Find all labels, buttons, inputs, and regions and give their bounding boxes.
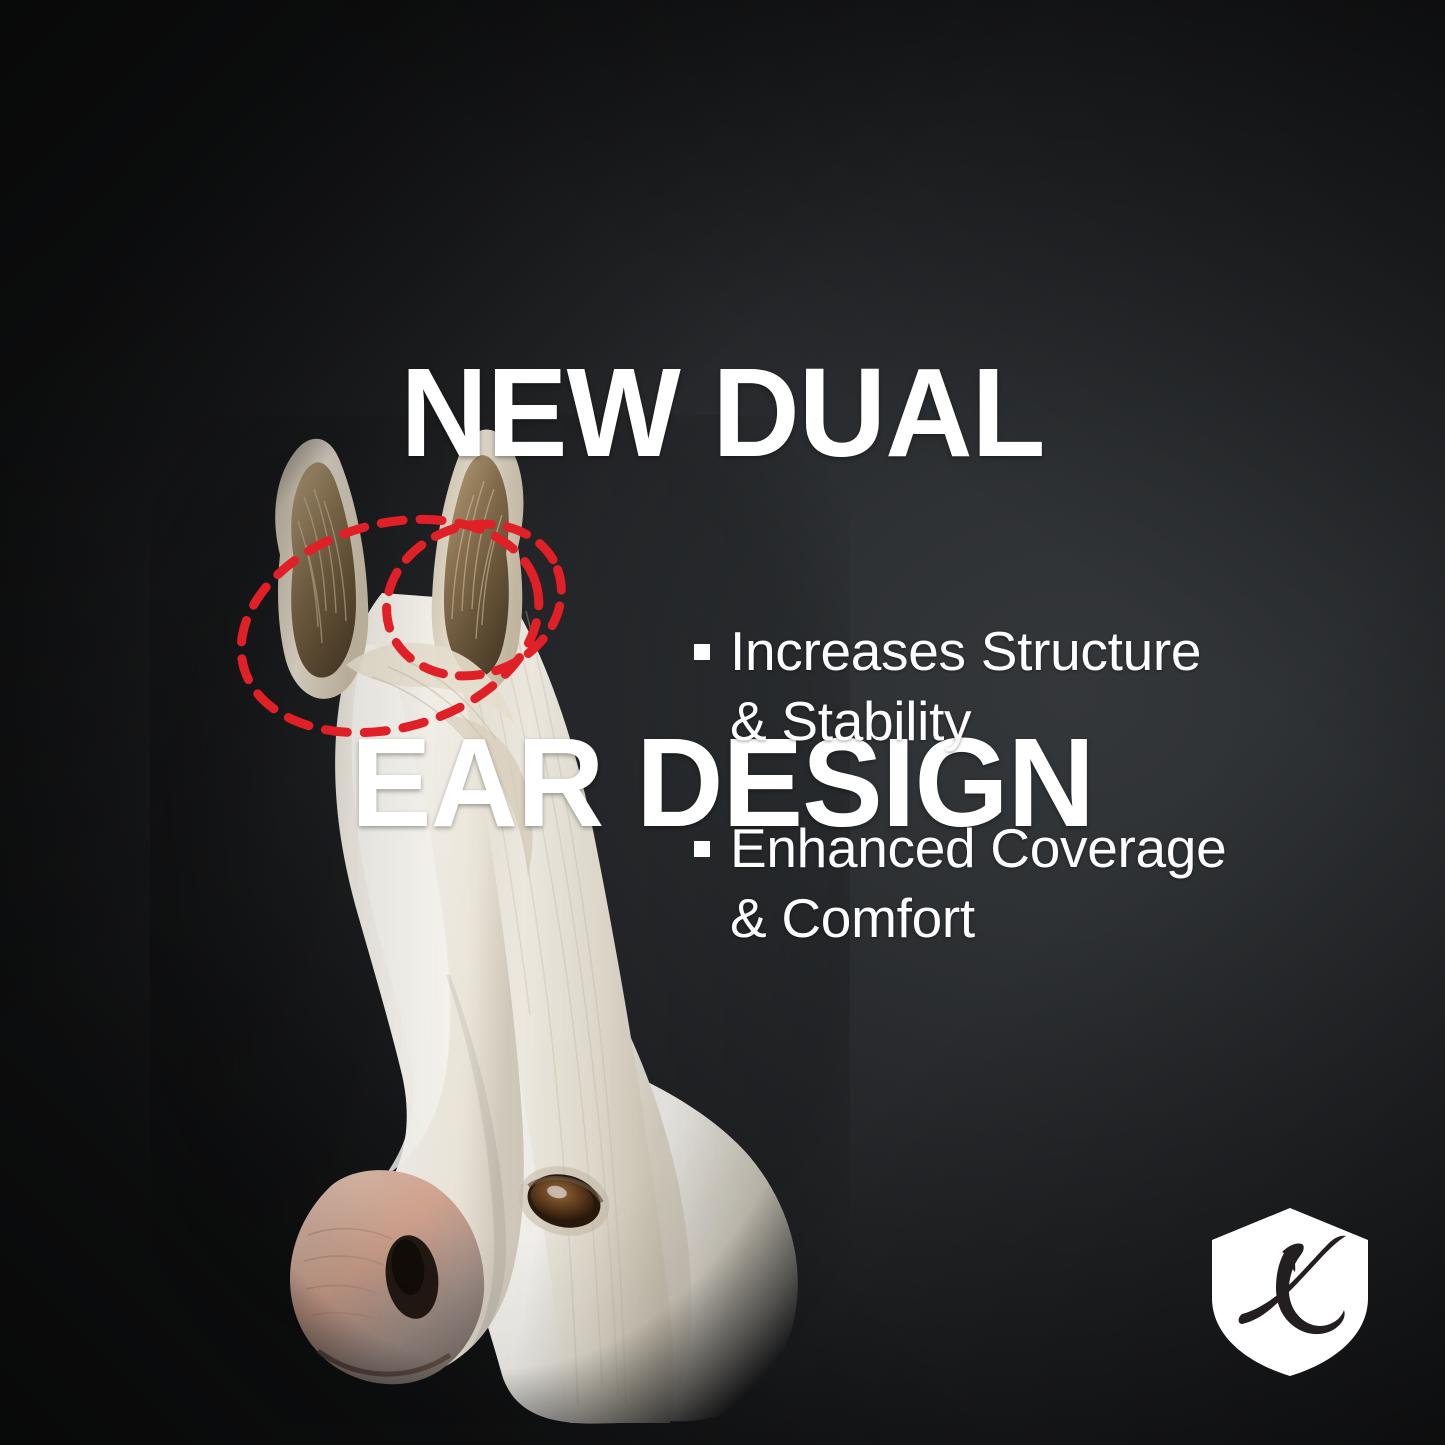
feature-text-1: Increases Structure & Stability [730, 616, 1201, 757]
promo-graphic: NEW DUAL EAR DESIGN Increases Structure … [0, 0, 1445, 1445]
feature-1-line-2: & Stability [730, 690, 971, 752]
feature-text-2: Enhanced Coverage & Comfort [730, 813, 1226, 954]
square-bullet-icon [694, 644, 710, 660]
square-bullet-icon [694, 841, 710, 857]
list-item: Enhanced Coverage & Comfort [694, 813, 1384, 954]
headline-line-1: NEW DUAL [29, 351, 1416, 474]
feature-1-line-1: Increases Structure [730, 620, 1201, 682]
feature-2-line-1: Enhanced Coverage [730, 817, 1226, 879]
feature-list: Increases Structure & Stability Enhanced… [694, 616, 1384, 1010]
feature-2-line-2: & Comfort [730, 887, 975, 949]
list-item: Increases Structure & Stability [694, 616, 1384, 757]
brand-logo [1206, 1206, 1374, 1378]
shield-icon [1212, 1208, 1368, 1376]
